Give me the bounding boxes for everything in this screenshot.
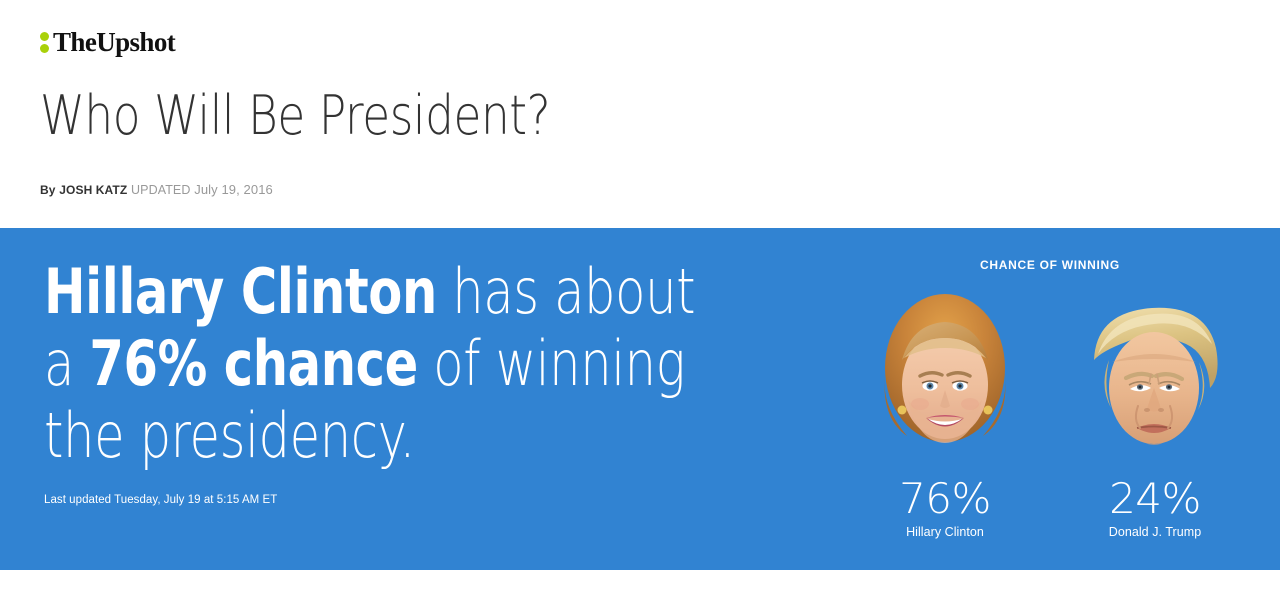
forecast-statement-line-3-text: the presidency. (44, 399, 415, 472)
page-title: Who Will Be President? (40, 88, 550, 145)
candidate-clinton-name: Hillary Clinton (906, 525, 984, 539)
chance-of-winning-label: CHANCE OF WINNING (840, 258, 1260, 272)
candidate-trump-percent: 24% (1109, 478, 1201, 520)
logo-dot-bottom-icon (40, 44, 49, 53)
upshot-logo[interactable]: TheUpshot (40, 28, 175, 56)
forecast-statement-line-2-head: a (44, 327, 89, 400)
forecast-statement-line-1-tail: has about (437, 255, 695, 328)
candidate-clinton[interactable]: 76% Hillary Clinton (840, 282, 1050, 539)
byline-author[interactable]: JOSH KATZ (59, 183, 127, 197)
chance-of-winning-panel: CHANCE OF WINNING (840, 228, 1280, 570)
forecast-statement-line-1: Hillary Clinton has about (44, 256, 668, 328)
candidate-list: 76% Hillary Clinton (840, 282, 1260, 539)
forecast-leader-name: Hillary Clinton (44, 255, 437, 328)
forecast-banner: Hillary Clinton has about a 76% chance o… (0, 228, 1280, 570)
upshot-president-forecast-page: TheUpshot Who Will Be President? By JOSH… (0, 0, 1280, 596)
candidate-clinton-percent: 76% (899, 478, 991, 520)
hillary-clinton-portrait (870, 282, 1020, 472)
byline-updated-label: UPDATED (131, 183, 191, 197)
candidate-trump-name: Donald J. Trump (1109, 525, 1201, 539)
logo-dot-top-icon (40, 32, 49, 41)
upshot-logo-dots-icon (40, 32, 49, 53)
byline: By JOSH KATZ UPDATED July 19, 2016 (40, 182, 273, 197)
forecast-statement-line-3: the presidency. (44, 400, 668, 472)
byline-date: July 19, 2016 (194, 182, 273, 197)
masthead: TheUpshot Who Will Be President? By JOSH… (0, 0, 1280, 228)
candidate-trump[interactable]: 24% Donald J. Trump (1050, 282, 1260, 539)
donald-trump-portrait (1080, 282, 1230, 472)
forecast-leader-probability: 76% chance (89, 327, 418, 400)
forecast-statement-line-2: a 76% chance of winning (44, 328, 668, 400)
page-footer-spacer (0, 570, 1280, 596)
forecast-statement-line-2-tail: of winning (418, 327, 685, 400)
last-updated-timestamp: Last updated Tuesday, July 19 at 5:15 AM… (44, 494, 277, 506)
upshot-logo-text: TheUpshot (53, 29, 175, 56)
byline-by-label: By (40, 183, 56, 197)
forecast-statement: Hillary Clinton has about a 76% chance o… (44, 256, 668, 472)
